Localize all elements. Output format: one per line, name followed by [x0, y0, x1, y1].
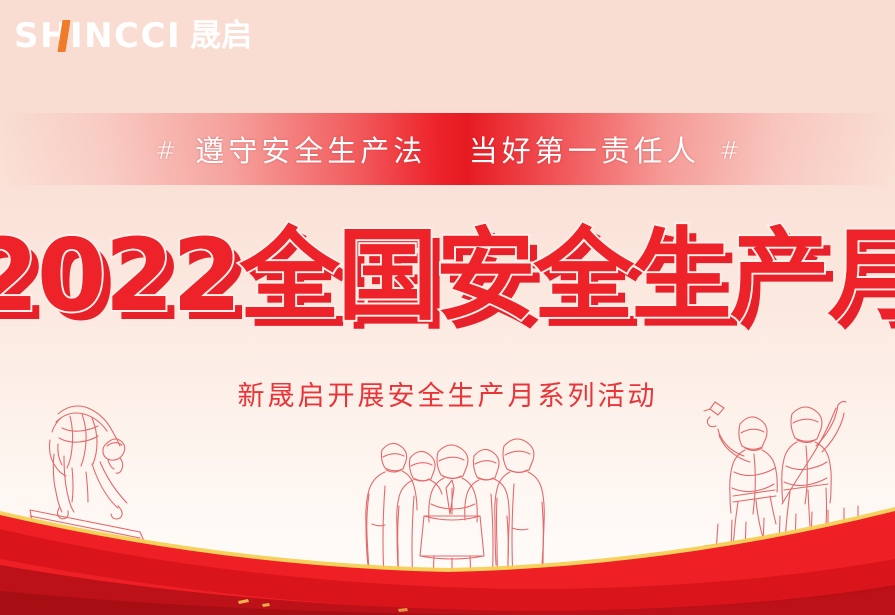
hash-left-icon: # — [149, 136, 182, 165]
logo-cjk-text: 晟启 — [190, 21, 252, 52]
bottom-red-waves — [0, 485, 895, 615]
logo-latin-text: SHINCCI — [14, 19, 181, 53]
slogan-banner: # 遵守安全生产法 当好第一责任人 # — [0, 113, 895, 185]
slogan-part-1: 遵守安全生产法 — [195, 134, 426, 168]
main-title-text: 2022全国安全生产月 — [0, 226, 895, 326]
safety-month-poster: SHINCCI 晟启 # 遵守安全生产法 当好第一责任人 # 2022全国安全生… — [0, 0, 895, 615]
hash-right-icon: # — [713, 136, 746, 165]
subtitle-text: 新晟启开展安全生产月系列活动 — [0, 374, 895, 413]
main-title-stack: 2022全国安全生产月 2022全国安全生产月 2022全国安全生产月 — [0, 226, 895, 326]
brand-logo[interactable]: SHINCCI 晟启 — [14, 14, 252, 58]
slogan-text: # 遵守安全生产法 当好第一责任人 # — [149, 128, 746, 170]
main-title-block: 2022全国安全生产月 2022全国安全生产月 2022全国安全生产月 — [0, 212, 895, 340]
logo-mark: SHINCCI — [14, 19, 181, 53]
slogan-part-2: 当好第一责任人 — [469, 134, 700, 168]
